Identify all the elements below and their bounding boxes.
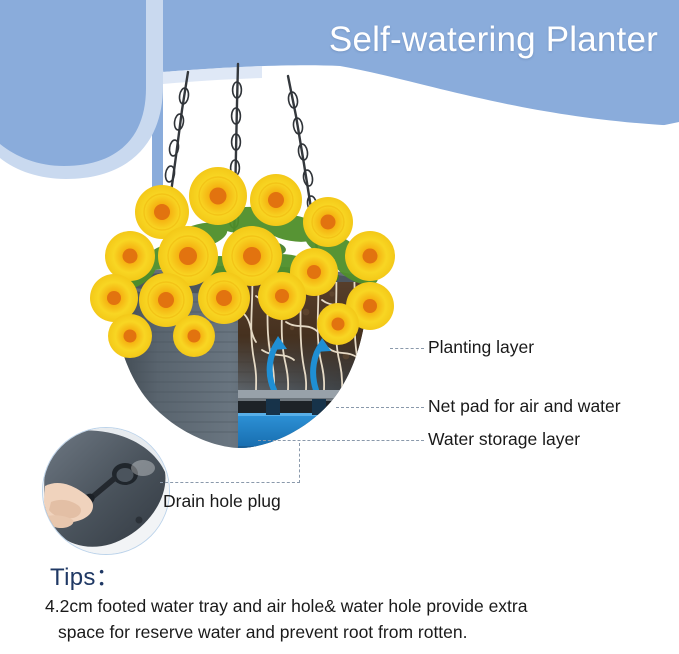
- leader-line-planting-layer: [390, 348, 424, 349]
- leader-line-net-pad: [336, 407, 424, 408]
- leader-line-water-storage: [258, 440, 424, 441]
- callout-water-storage: Water storage layer: [428, 429, 580, 450]
- leader-line-drain-plug-vertical: [299, 443, 300, 483]
- drain-hole-inner: [117, 468, 134, 482]
- drain-hole-plug-photo: [42, 427, 170, 555]
- callout-net-pad: Net pad for air and water: [428, 396, 621, 417]
- callout-drain-hole-plug: Drain hole plug: [163, 491, 281, 512]
- product-illustration: [70, 60, 450, 460]
- callout-planting-layer: Planting layer: [428, 337, 534, 358]
- tips-line-1: 4.2cm footed water tray and air hole& wa…: [45, 596, 527, 617]
- base-highlight: [131, 460, 155, 476]
- page-title: Self-watering Planter: [329, 18, 658, 62]
- tray-base: [238, 446, 388, 454]
- vent-hole: [136, 517, 143, 524]
- infographic-canvas: Self-watering Planter: [0, 0, 679, 654]
- net-pad: [238, 390, 388, 399]
- tips-line-2: space for reserve water and prevent root…: [58, 622, 468, 643]
- tips-heading: Tips：: [50, 557, 120, 592]
- water-storage: [238, 413, 388, 453]
- leader-line-drain-plug-horizontal: [160, 482, 300, 483]
- wick-column: [266, 399, 280, 415]
- wick-column-2: [312, 399, 326, 415]
